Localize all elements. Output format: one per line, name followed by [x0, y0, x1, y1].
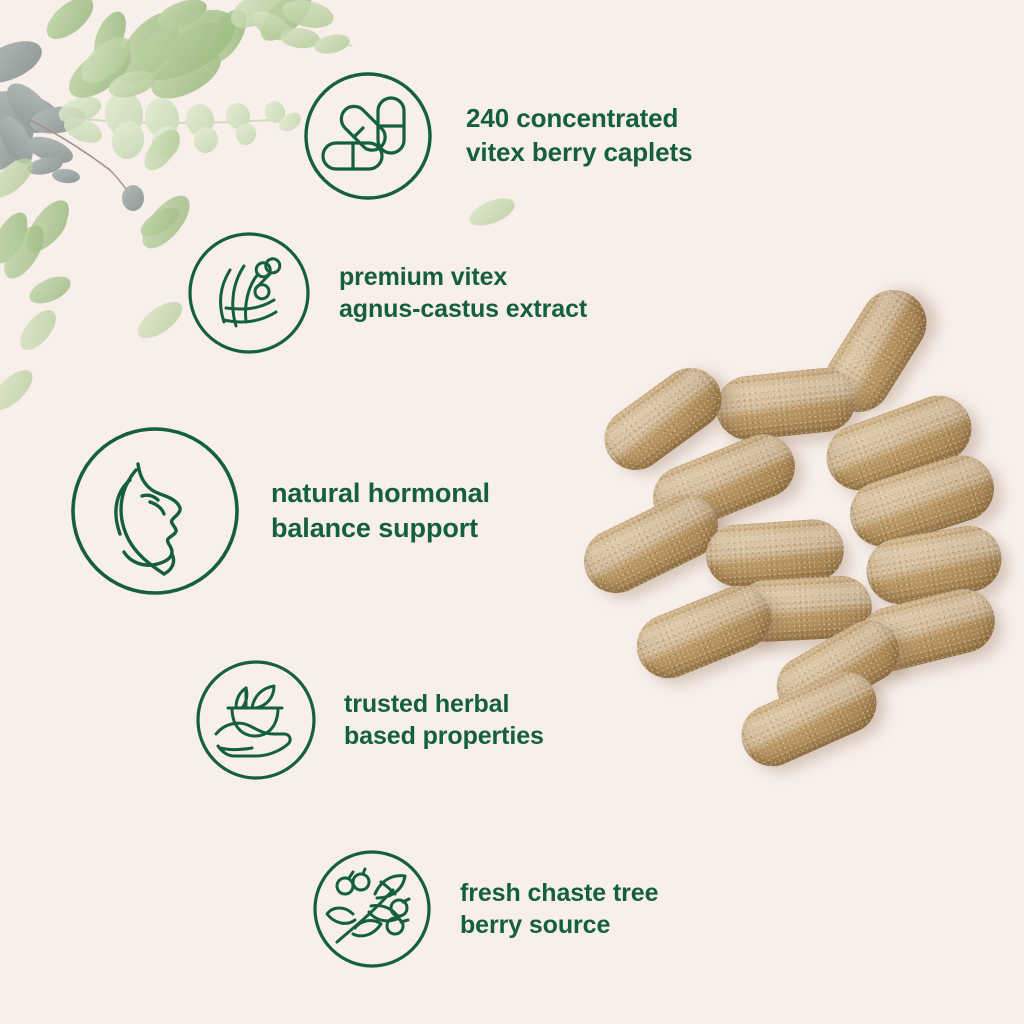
feature-label-hormonal-balance: natural hormonal balance support	[271, 476, 490, 546]
capsules-icon	[302, 70, 434, 202]
berry-branch-icon	[311, 848, 433, 970]
feature-label-caplet-count: 240 concentrated vitex berry caplets	[466, 102, 692, 170]
feature-label-premium-extract: premium vitex agnus-castus extract	[339, 261, 587, 326]
vitex-caplets-pile	[576, 300, 1024, 800]
feature-label-berry-source: fresh chaste tree berry source	[460, 877, 658, 942]
feature-row-berry-source: fresh chaste tree berry source	[311, 848, 658, 970]
feature-row-caplet-count: 240 concentrated vitex berry caplets	[302, 70, 692, 202]
product-infographic: 240 concentrated vitex berry caplets pre…	[0, 0, 1024, 1024]
feature-row-herbal-properties: trusted herbal based properties	[194, 658, 544, 782]
hand-holding-mortar-icon	[194, 658, 318, 782]
herb-branch-icon	[186, 230, 312, 356]
feature-row-premium-extract: premium vitex agnus-castus extract	[186, 230, 587, 356]
feature-row-hormonal-balance: natural hormonal balance support	[68, 424, 490, 598]
feature-label-herbal-properties: trusted herbal based properties	[344, 688, 544, 753]
woman-face-profile-icon	[68, 424, 242, 598]
